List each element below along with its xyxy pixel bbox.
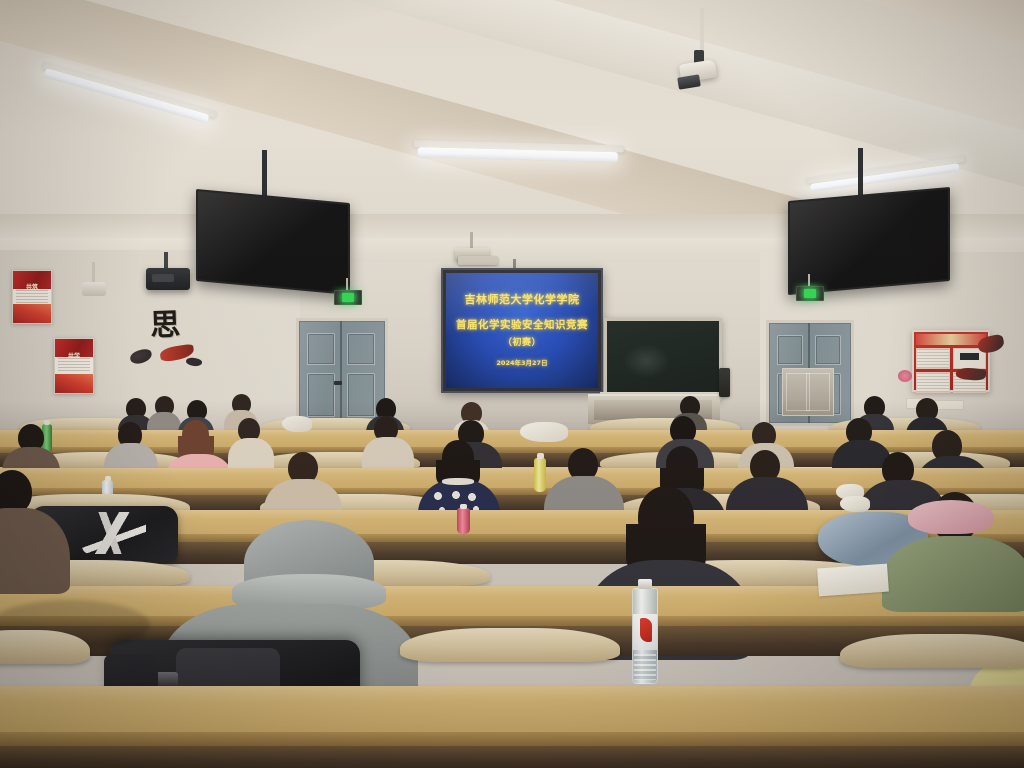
wall-mounted-tv-left — [196, 189, 350, 295]
wall-speaker — [719, 368, 730, 397]
water-bottle-foreground — [632, 588, 658, 684]
juice-bottle-yellow — [534, 458, 546, 492]
answer-sheet — [817, 564, 889, 597]
backpack-left-white-pattern — [82, 512, 146, 554]
bottle-body — [534, 458, 546, 492]
slide-line-stage: （初赛） — [446, 335, 598, 348]
bench-e-2 — [400, 628, 620, 662]
projection-screen-housing — [458, 256, 498, 265]
projection-screen: 吉林师范大学化学学院 首届化学实验安全知识竞赛 （初赛） 2024年3月27日 — [441, 268, 603, 393]
wall-camera-icon — [82, 282, 106, 296]
bottle-cap — [537, 453, 544, 459]
door-right-panel-top-r — [815, 335, 841, 365]
torso — [882, 536, 1024, 612]
slide-line-event: 首届化学实验安全知识竞赛 — [446, 317, 598, 332]
door-right-panel-top-l — [777, 335, 803, 365]
bottle-body — [457, 508, 470, 534]
tissue-pack-a — [282, 416, 312, 432]
door-left-panel-top-r — [347, 333, 375, 365]
right-wall-flower-decor — [898, 370, 912, 382]
bench-e-3 — [840, 634, 1024, 668]
riser-e — [0, 746, 1024, 768]
wall-mounted-tv-right — [788, 187, 950, 295]
door-left-panel-top-l — [307, 333, 335, 365]
exit-icon-left — [342, 293, 354, 302]
projection-slide: 吉林师范大学化学学院 首届化学实验安全知识竞赛 （初赛） 2024年3月27日 — [446, 273, 598, 388]
bulletin-board — [912, 330, 990, 392]
exit-sign-right — [796, 286, 824, 301]
door-left-handle[interactable] — [334, 381, 342, 385]
torso — [228, 438, 274, 472]
white-cloth-a — [520, 422, 568, 442]
bulletin-panel-1 — [916, 348, 950, 369]
projector-left — [146, 268, 190, 290]
red-propaganda-poster-lower: 共学 — [54, 338, 94, 394]
poster-lower-image — [55, 374, 93, 393]
jacket-collar — [442, 478, 474, 485]
poster-lower-text — [58, 358, 90, 372]
small-pink-bottle — [457, 508, 470, 534]
bulletin-panel-3 — [916, 372, 950, 393]
tissue-pack-c — [840, 496, 870, 512]
bottle-cap — [460, 504, 467, 509]
tv-left-glare — [198, 191, 348, 293]
bottle-cap — [638, 579, 652, 589]
desk-edge-d — [0, 616, 1024, 626]
desk-surface-e — [0, 686, 1024, 732]
wall-camera-pole — [92, 262, 95, 284]
bottle-label-red-graphic — [640, 618, 652, 642]
lecture-hall-photo: 吉林师范大学化学学院 首届化学实验安全知识竞赛 （初赛） 2024年3月27日 — [0, 0, 1024, 768]
wall-calligraphy-character: 思 — [149, 299, 181, 344]
red-propaganda-poster-upper: 共筑 — [12, 270, 52, 324]
exit-icon-right — [804, 289, 816, 298]
poster-upper-image — [13, 304, 51, 323]
poster-upper-text — [16, 290, 48, 304]
pink-fur-collar — [908, 500, 994, 534]
bottle-cap — [105, 476, 111, 481]
bulletin-board-header — [916, 334, 986, 345]
green-chalkboard — [604, 318, 722, 400]
tv-right-glare — [790, 189, 948, 293]
slide-line-institution: 吉林师范大学化学学院 — [446, 291, 598, 307]
slide-line-date: 2024年3月27日 — [446, 357, 598, 367]
desk-edge-e — [0, 732, 1024, 746]
desk-surface-b — [0, 468, 1024, 488]
bottle-cap — [44, 420, 50, 425]
chalkboard-glare — [623, 344, 670, 378]
bottle-ribs — [634, 654, 656, 680]
exit-sign-left — [334, 290, 362, 305]
